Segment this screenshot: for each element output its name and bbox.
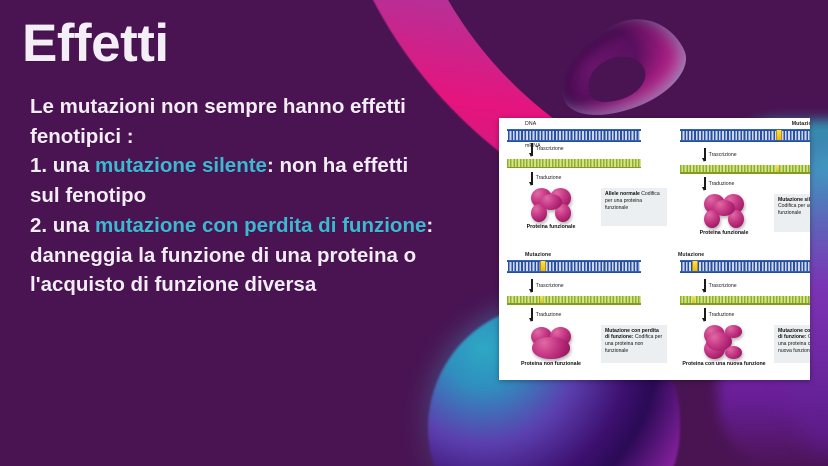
body-item-2-cont-2: l'acquisto di funzione diversa xyxy=(30,270,490,300)
protein-row-4: Proteina con una nuova funzione Mutazion… xyxy=(678,325,810,368)
translation-arrow-row-1: Traduzione xyxy=(531,170,667,186)
transcription-arrow-row-4: Trascrizione xyxy=(704,278,810,294)
translation-arrow-row-4: Traduzione xyxy=(704,307,810,323)
dna-rail-bottom xyxy=(507,271,641,273)
slide: Effetti Le mutazioni non sempre hanno ef… xyxy=(0,0,828,466)
mrna-strand-1 xyxy=(507,159,641,168)
callout-bold-1: Allele normale xyxy=(605,191,640,197)
callout-text-2: Codifica per una proteina funzionale xyxy=(778,203,810,216)
protein-column-1: Proteina funzionale xyxy=(505,188,597,231)
translation-label-2: Traduzione xyxy=(709,181,735,187)
dna-rail-bottom xyxy=(680,140,810,142)
transcription-label-3: Trascrizione xyxy=(536,283,564,289)
arrow-down-icon xyxy=(531,308,533,321)
protein-blob-functional-icon xyxy=(531,188,571,222)
item2-highlight: mutazione con perdita di funzione xyxy=(95,214,426,237)
translation-label-1: Traduzione xyxy=(536,175,562,181)
protein-column-4: Proteina con una nuova funzione xyxy=(678,325,770,368)
dna-rungs xyxy=(508,131,640,140)
dna-label-1: DNA xyxy=(505,122,667,128)
body-item-2-cont-1: danneggia la funzione di una proteina o xyxy=(30,241,490,271)
translation-arrow-row-3: Traduzione xyxy=(531,307,667,323)
mrna-strand-2 xyxy=(680,165,810,174)
arrow-down-icon xyxy=(531,279,533,292)
mutation-label-4: Mutazione xyxy=(678,253,810,259)
callout-bold-4: Mutazione con acquisto di funzione: xyxy=(778,328,810,341)
bean-blob-notch xyxy=(580,48,652,111)
arrow-down-icon xyxy=(704,148,706,161)
arrow-down-icon xyxy=(704,177,706,190)
mrna-base xyxy=(680,172,810,174)
diagram-grid: DNA mRNA Trascrizione Traduzione xyxy=(499,118,810,380)
body-line-1: Le mutazioni non sempre hanno effetti xyxy=(30,92,490,122)
item1-prefix: 1. una xyxy=(30,154,95,177)
protein-caption-3: Proteina non funzionale xyxy=(521,361,581,368)
mutation-effects-diagram: DNA mRNA Trascrizione Traduzione xyxy=(499,118,810,380)
mrna-base xyxy=(507,167,641,169)
body-item-2: 2. una mutazione con perdita di funzione… xyxy=(30,211,490,241)
protein-caption-4: Proteina con una nuova funzione xyxy=(682,361,765,368)
protein-blob-functional-icon xyxy=(704,194,744,228)
callout-loss-of-function: Mutazione con perdita di funzione: Codif… xyxy=(601,325,667,363)
body-text: Le mutazioni non sempre hanno effetti fe… xyxy=(30,92,490,300)
dna-rail-bottom xyxy=(680,271,810,273)
translation-label-4: Traduzione xyxy=(709,312,735,318)
callout-normal-allele: Allele normale Codifica per una proteina… xyxy=(601,188,667,226)
transcription-label-2: Trascrizione xyxy=(709,152,737,158)
arrow-down-icon xyxy=(531,143,533,156)
dna-rungs xyxy=(508,262,640,271)
transcription-label-4: Trascrizione xyxy=(709,283,737,289)
dna-rail-bottom xyxy=(507,140,641,142)
diagram-panel-loss-of-function: Mutazione Trascrizione xyxy=(499,249,672,380)
protein-row-1: Proteina funzionale Allele normale Codif… xyxy=(505,188,667,231)
protein-caption-1: Proteina funzionale xyxy=(527,224,576,231)
item1-highlight: mutazione silente xyxy=(95,154,267,177)
protein-column-2: Proteina funzionale xyxy=(678,194,770,237)
mutation-label-3: Mutazione xyxy=(505,253,667,259)
dna-strand-2 xyxy=(680,129,810,142)
callout-gain-of-function: Mutazione con acquisto di funzione: Codi… xyxy=(774,325,810,363)
arrow-down-icon xyxy=(704,308,706,321)
transcription-arrow-row-2: Trascrizione xyxy=(704,147,810,163)
body-item-1: 1. una mutazione silente: non ha effetti xyxy=(30,151,490,181)
dna-strand-3 xyxy=(507,260,641,273)
protein-caption-2: Proteina funzionale xyxy=(700,230,749,237)
transcription-arrow-row-1: Trascrizione xyxy=(531,141,667,157)
transcription-arrow-row-3: Trascrizione xyxy=(531,278,667,294)
diagram-panel-normal-allele: DNA mRNA Trascrizione Traduzione xyxy=(499,118,672,249)
arrow-down-icon xyxy=(531,172,533,185)
body-line-2: fenotipici : xyxy=(30,122,490,152)
page-title: Effetti xyxy=(22,17,169,70)
mrna-strand-4 xyxy=(680,296,810,305)
diagram-panel-gain-of-function: Mutazione Trascrizione xyxy=(672,249,810,380)
dna-strand-4 xyxy=(680,260,810,273)
callout-silent-mutation: Mutazione silente: Codifica per una prot… xyxy=(774,194,810,232)
bean-blob-decoration xyxy=(545,3,698,133)
callout-bold-2: Mutazione silente: xyxy=(778,197,810,203)
mrna-base xyxy=(507,303,641,305)
item1-suffix: : non ha effetti xyxy=(267,154,408,177)
transcription-label-1: Trascrizione xyxy=(536,146,564,152)
item2-suffix: : xyxy=(426,214,433,237)
body-item-1-cont: sul fenotipo xyxy=(30,181,490,211)
mrna-strand-3 xyxy=(507,296,641,305)
protein-blob-nonfunctional-icon xyxy=(531,325,571,359)
protein-row-2: Proteina funzionale Mutazione silente: C… xyxy=(678,194,810,237)
mutation-label-2: Mutazione xyxy=(678,122,810,128)
dna-rungs xyxy=(681,262,810,271)
protein-row-3: Proteina non funzionale Mutazione con pe… xyxy=(505,325,667,368)
dna-rungs xyxy=(681,131,810,140)
protein-column-3: Proteina non funzionale xyxy=(505,325,597,368)
protein-blob-newfunction-icon xyxy=(704,325,744,359)
translation-arrow-row-2: Traduzione xyxy=(704,176,810,192)
translation-label-3: Traduzione xyxy=(536,312,562,318)
diagram-panel-silent-mutation: Mutazione Trascrizione xyxy=(672,118,810,249)
dna-strand-1 xyxy=(507,129,641,142)
mrna-base xyxy=(680,303,810,305)
arrow-down-icon xyxy=(704,279,706,292)
item2-prefix: 2. una xyxy=(30,214,95,237)
